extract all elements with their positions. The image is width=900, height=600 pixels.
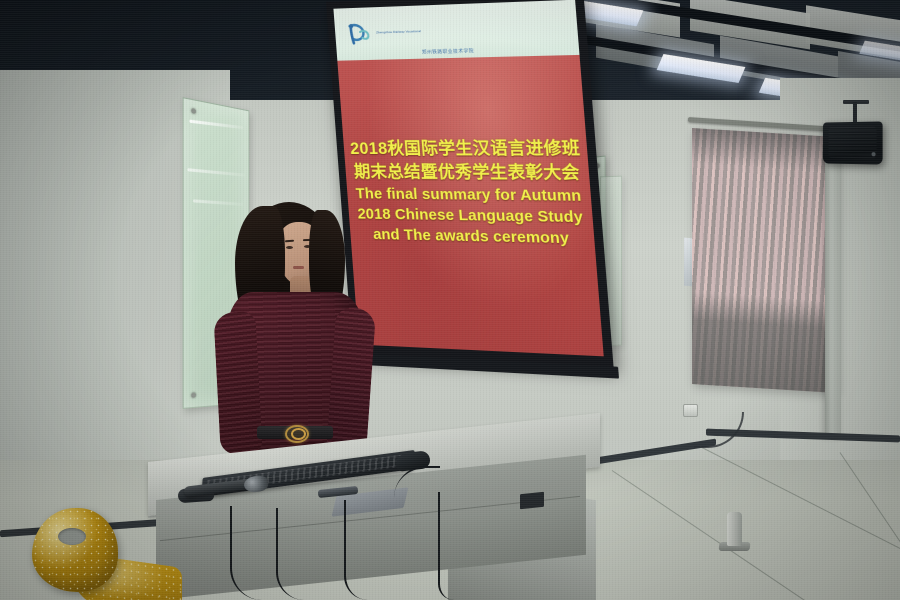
logo-english-text: Zhengzhou Railway Vocational (376, 30, 421, 35)
slide-title-en-3: and The awards ceremony (373, 226, 570, 250)
cable-run (344, 500, 368, 600)
board-stud (191, 392, 196, 397)
screen-dot (487, 354, 490, 356)
window-curtain (692, 128, 836, 393)
board-stud (191, 108, 196, 114)
slide-title-cn-2: 期末总结暨优秀学生表彰大会 (353, 162, 580, 186)
speaker-grill (828, 127, 876, 159)
slide-title-cn-1: 2018秋国际学生汉语言进修班 (349, 138, 581, 161)
slide-header-band: Zhengzhou Railway Vocational 郑州铁路职业技术学院 (333, 0, 579, 60)
cable-run (276, 508, 304, 600)
speaker-led-icon (872, 152, 876, 156)
chair-backrest[interactable] (32, 508, 118, 592)
lectern-control-badge (520, 492, 544, 510)
wall-mounted-speaker (823, 121, 883, 164)
slide-body: 2018秋国际学生汉语言进修班 期末总结暨优秀学生表彰大会 The final … (337, 55, 603, 357)
presenter-mouth (293, 266, 304, 269)
slide-title-en-1: The final summary for Autumn (355, 185, 582, 207)
speaker-bracket (853, 102, 857, 124)
board-glare (189, 120, 243, 130)
cable-run (230, 506, 262, 600)
presenter-left-arm (213, 311, 262, 455)
slide-surface: Zhengzhou Railway Vocational 郑州铁路职业技术学院 … (333, 0, 603, 356)
slide-title-en-2: 2018 Chinese Language Study (357, 206, 584, 229)
cable-run (438, 492, 454, 600)
curtain-bottom-shadow (692, 292, 836, 393)
gold-glitter-chair[interactable] (0, 508, 176, 600)
presenter-belt-buckle (285, 425, 309, 443)
university-emblem-icon (340, 20, 372, 47)
presenter-eye (286, 246, 293, 249)
curtain-top-shadow (692, 128, 836, 173)
floor-canister (727, 512, 742, 546)
chair-backrest-hole (58, 528, 86, 545)
board-glare (187, 168, 245, 177)
podium-lectern (148, 448, 608, 600)
chair-glitter-texture (32, 508, 118, 592)
structural-pillar (825, 126, 841, 438)
screen-dot (474, 353, 477, 356)
lecture-hall-photo: Zhengzhou Railway Vocational 郑州铁路职业技术学院 … (0, 0, 900, 600)
